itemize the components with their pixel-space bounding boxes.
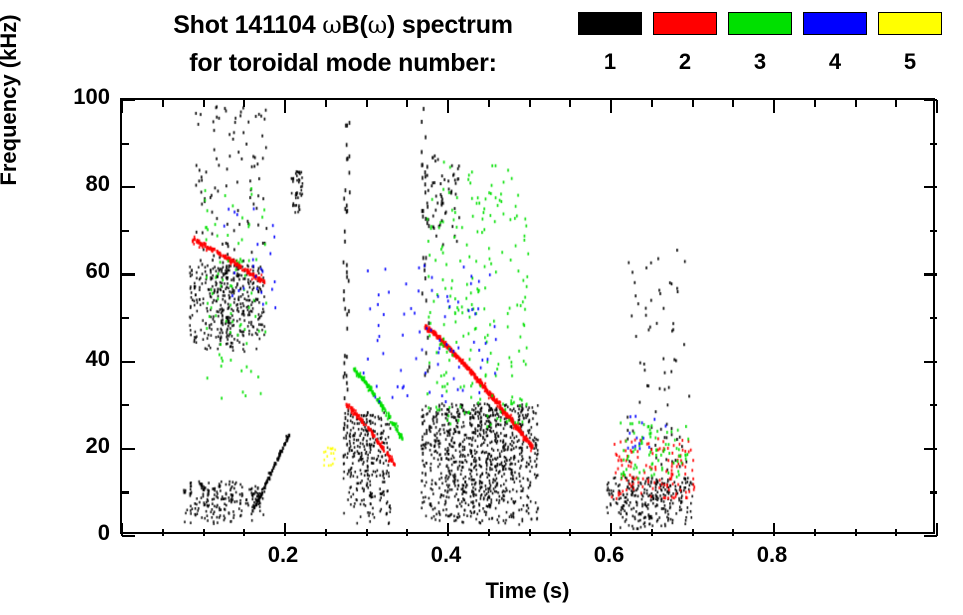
axis-tick xyxy=(122,535,135,537)
x-tick-label: 0.2 xyxy=(243,542,323,568)
axis-tick xyxy=(924,273,937,275)
axis-tick xyxy=(814,529,816,536)
axis-tick xyxy=(122,230,129,232)
y-tick-label: 80 xyxy=(24,171,110,197)
legend-item-2[interactable]: 2 xyxy=(653,12,717,74)
axis-tick xyxy=(122,99,135,101)
omega-symbol-2: ω xyxy=(368,11,387,39)
axis-tick xyxy=(488,100,490,107)
plot-area xyxy=(120,98,935,534)
axis-tick xyxy=(651,100,653,107)
axis-tick xyxy=(325,529,327,536)
axis-tick xyxy=(895,100,897,107)
axis-tick xyxy=(122,361,135,363)
axis-tick xyxy=(930,230,937,232)
axis-tick xyxy=(122,448,135,450)
legend-swatch-4 xyxy=(803,12,867,35)
axis-tick xyxy=(122,317,129,319)
x-tick-label: 0.4 xyxy=(406,542,486,568)
axis-tick xyxy=(122,404,129,406)
axis-tick xyxy=(366,529,368,536)
axis-tick xyxy=(692,529,694,536)
axis-tick xyxy=(529,529,531,536)
x-axis-title: Time (s) xyxy=(120,578,935,604)
figure-title-line-2: for toroidal mode number: xyxy=(108,44,578,82)
axis-tick xyxy=(569,100,571,107)
axis-tick xyxy=(936,100,938,113)
axis-tick xyxy=(732,100,734,107)
axis-tick xyxy=(569,529,571,536)
axis-tick xyxy=(284,523,286,536)
y-tick-label: 60 xyxy=(24,258,110,284)
axis-tick xyxy=(366,100,368,107)
axis-tick xyxy=(924,535,937,537)
legend-swatch-1 xyxy=(578,12,642,35)
axis-tick xyxy=(924,186,937,188)
title-b-text: B( xyxy=(342,11,368,39)
legend-item-5[interactable]: 5 xyxy=(878,12,942,74)
axis-tick xyxy=(122,143,129,145)
legend-item-1[interactable]: 1 xyxy=(578,12,642,74)
spectrogram-figure: Shot 141104 ωB(ω) spectrum for toroidal … xyxy=(0,0,963,615)
axis-tick xyxy=(122,186,135,188)
axis-tick xyxy=(447,100,449,113)
axis-tick xyxy=(406,100,408,107)
axis-tick xyxy=(121,100,123,113)
axis-tick xyxy=(732,529,734,536)
axis-tick xyxy=(203,100,205,107)
axis-tick xyxy=(122,491,129,493)
y-tick-label: 0 xyxy=(24,520,110,546)
axis-tick xyxy=(406,529,408,536)
axis-tick xyxy=(773,100,775,113)
legend-item-3[interactable]: 3 xyxy=(728,12,792,74)
axis-tick xyxy=(610,523,612,536)
legend-item-4[interactable]: 4 xyxy=(803,12,867,74)
legend-label-2: 2 xyxy=(653,50,717,74)
axis-tick xyxy=(162,529,164,536)
spectrogram-canvas xyxy=(122,100,933,532)
axis-tick xyxy=(924,99,937,101)
axis-tick xyxy=(162,100,164,107)
axis-tick xyxy=(855,529,857,536)
title-spectrum-text: ) spectrum xyxy=(387,11,513,39)
legend-swatch-5 xyxy=(878,12,942,35)
legend-label-5: 5 xyxy=(878,50,942,74)
axis-tick xyxy=(610,100,612,113)
legend-swatch-3 xyxy=(728,12,792,35)
figure-title: Shot 141104 ωB(ω) spectrum for toroidal … xyxy=(108,6,578,82)
axis-tick xyxy=(243,529,245,536)
axis-tick xyxy=(930,143,937,145)
y-tick-label: 40 xyxy=(24,346,110,372)
axis-tick xyxy=(930,317,937,319)
legend-label-4: 4 xyxy=(803,50,867,74)
legend-label-1: 1 xyxy=(578,50,642,74)
axis-tick xyxy=(855,100,857,107)
axis-tick xyxy=(895,529,897,536)
axis-tick xyxy=(529,100,531,107)
axis-tick xyxy=(773,523,775,536)
axis-tick xyxy=(122,273,135,275)
legend-label-3: 3 xyxy=(728,50,792,74)
y-tick-label: 100 xyxy=(24,84,110,110)
axis-tick xyxy=(284,100,286,113)
axis-tick xyxy=(203,529,205,536)
omega-symbol-1: ω xyxy=(322,11,341,39)
axis-tick xyxy=(930,404,937,406)
y-axis-title: Frequency (kHz) xyxy=(0,0,22,230)
axis-tick xyxy=(930,491,937,493)
axis-tick xyxy=(488,529,490,536)
x-tick-label: 0.8 xyxy=(732,542,812,568)
mode-number-legend: 1 2 3 4 5 xyxy=(578,12,948,92)
axis-tick xyxy=(924,361,937,363)
title-shot-text: Shot 141104 xyxy=(173,11,322,39)
axis-tick xyxy=(325,100,327,107)
axis-tick xyxy=(651,529,653,536)
x-tick-label: 0.6 xyxy=(569,542,649,568)
y-tick-label: 20 xyxy=(24,433,110,459)
legend-swatch-2 xyxy=(653,12,717,35)
axis-tick xyxy=(447,523,449,536)
axis-tick xyxy=(692,100,694,107)
axis-tick xyxy=(814,100,816,107)
axis-tick xyxy=(243,100,245,107)
axis-tick xyxy=(924,448,937,450)
figure-title-line-1: Shot 141104 ωB(ω) spectrum xyxy=(108,6,578,44)
